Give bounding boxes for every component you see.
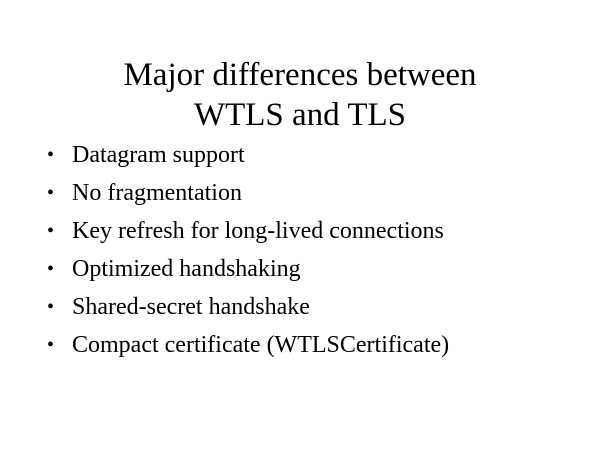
- bullet-item-label: Optimized handshaking: [72, 250, 301, 288]
- bullet-item-label: Key refresh for long-lived connections: [72, 212, 444, 250]
- bullet-point-icon: •: [47, 212, 61, 250]
- bullet-item-shared-secret-handshake: • Shared-secret handshake: [44, 288, 564, 326]
- slide-bullet-list: • Datagram support • No fragmentation • …: [44, 136, 564, 364]
- presentation-slide: Major differences between WTLS and TLS •…: [0, 0, 600, 450]
- bullet-point-icon: •: [47, 326, 61, 364]
- slide-title-line-2: WTLS and TLS: [0, 95, 600, 135]
- bullet-point-icon: •: [47, 136, 61, 174]
- bullet-item-compact-certificate: • Compact certificate (WTLSCertificate): [44, 326, 564, 364]
- bullet-item-key-refresh: • Key refresh for long-lived connections: [44, 212, 564, 250]
- bullet-item-label: Compact certificate (WTLSCertificate): [72, 326, 449, 364]
- bullet-point-icon: •: [47, 250, 61, 288]
- bullet-point-icon: •: [47, 288, 61, 326]
- bullet-item-label: Datagram support: [72, 136, 245, 174]
- bullet-item-no-fragmentation: • No fragmentation: [44, 174, 564, 212]
- bullet-item-label: Shared-secret handshake: [72, 288, 310, 326]
- slide-title: Major differences between WTLS and TLS: [0, 55, 600, 135]
- bullet-item-optimized-handshaking: • Optimized handshaking: [44, 250, 564, 288]
- bullet-point-icon: •: [47, 174, 61, 212]
- slide-title-line-1: Major differences between: [0, 55, 600, 95]
- bullet-item-datagram-support: • Datagram support: [44, 136, 564, 174]
- bullet-item-label: No fragmentation: [72, 174, 242, 212]
